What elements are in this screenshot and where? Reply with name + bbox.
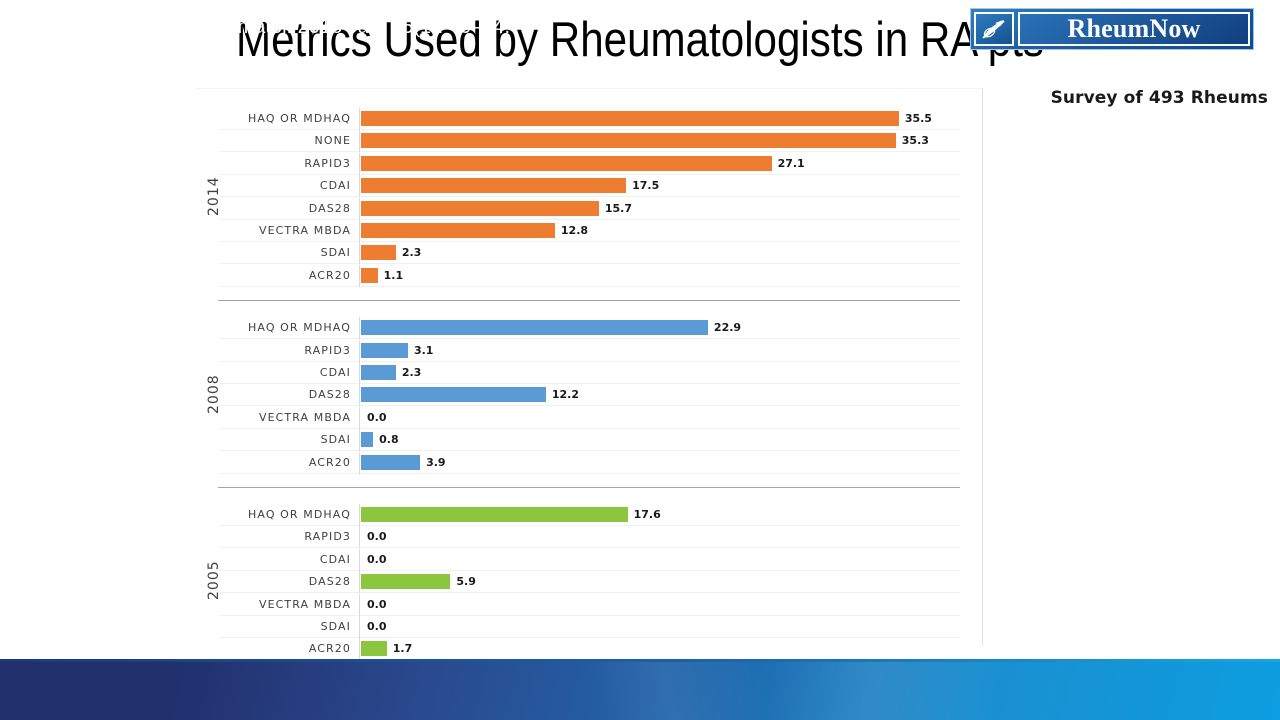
bar-value-label: 2.3 bbox=[402, 246, 422, 259]
bar-row: VECTRA MBDA0.0 bbox=[196, 407, 983, 429]
bar-row: ACR201.1 bbox=[196, 265, 983, 287]
bar-track: 5.9 bbox=[359, 571, 970, 593]
bar-track: 15.7 bbox=[359, 198, 970, 220]
bar-row: DAS2812.2 bbox=[196, 384, 983, 406]
bar-value-label: 1.7 bbox=[393, 642, 413, 655]
bar-track: 27.1 bbox=[359, 153, 970, 175]
year-axis-label: 2005 bbox=[206, 561, 222, 601]
footer-bar bbox=[0, 662, 1280, 720]
bar-value-label: 0.0 bbox=[367, 620, 387, 633]
bar-value-label: 35.5 bbox=[905, 112, 932, 125]
bar[interactable] bbox=[361, 343, 408, 358]
category-label: VECTRA MBDA bbox=[196, 224, 351, 237]
category-label: HAQ OR MDHAQ bbox=[196, 112, 351, 125]
bar-value-label: 12.8 bbox=[561, 224, 588, 237]
bar-row: HAQ OR MDHAQ17.6 bbox=[196, 504, 983, 526]
bar-track: 1.7 bbox=[359, 638, 970, 660]
bar[interactable] bbox=[361, 365, 396, 380]
category-label: ACR20 bbox=[196, 642, 351, 655]
bar-track: 2.3 bbox=[359, 362, 970, 384]
bar[interactable] bbox=[361, 156, 772, 171]
bar-value-label: 0.8 bbox=[379, 433, 399, 446]
bar-row: CDAI0.0 bbox=[196, 549, 983, 571]
category-label: RAPID3 bbox=[196, 530, 351, 543]
bar-value-label: 17.6 bbox=[634, 508, 661, 521]
bar-track: 0.0 bbox=[359, 549, 970, 571]
bar-value-label: 0.0 bbox=[367, 411, 387, 424]
year-axis-label: 2014 bbox=[206, 176, 222, 216]
bar[interactable] bbox=[361, 455, 420, 470]
bar-track: 0.0 bbox=[359, 526, 970, 548]
bar[interactable] bbox=[361, 111, 899, 126]
year-axis-label: 2008 bbox=[206, 374, 222, 414]
bar-value-label: 0.0 bbox=[367, 530, 387, 543]
logo-word-box: RheumNow bbox=[1018, 12, 1250, 46]
bar[interactable] bbox=[361, 574, 450, 589]
bar-value-label: 1.1 bbox=[384, 269, 404, 282]
bar-value-label: 22.9 bbox=[714, 321, 741, 334]
group-separator bbox=[218, 487, 960, 488]
category-label: NONE bbox=[196, 134, 351, 147]
bar-row: SDAI0.0 bbox=[196, 616, 983, 638]
bar-track: 0.0 bbox=[359, 407, 970, 429]
bar-track: 3.1 bbox=[359, 340, 970, 362]
bar-track: 0.0 bbox=[359, 616, 970, 638]
bar-row: SDAI0.8 bbox=[196, 429, 983, 451]
bar[interactable] bbox=[361, 201, 599, 216]
category-label: RAPID3 bbox=[196, 157, 351, 170]
category-label: RAPID3 bbox=[196, 344, 351, 357]
bar-row: CDAI17.5 bbox=[196, 175, 983, 197]
bar-track: 0.8 bbox=[359, 429, 970, 451]
bar[interactable] bbox=[361, 268, 378, 283]
bar-row: HAQ OR MDHAQ35.5 bbox=[196, 108, 983, 130]
bar[interactable] bbox=[361, 245, 396, 260]
bar-value-label: 0.0 bbox=[367, 598, 387, 611]
bar[interactable] bbox=[361, 133, 896, 148]
bar[interactable] bbox=[361, 432, 373, 447]
category-label: HAQ OR MDHAQ bbox=[196, 321, 351, 334]
bar[interactable] bbox=[361, 507, 628, 522]
bar[interactable] bbox=[361, 387, 546, 402]
bar-row: SDAI2.3 bbox=[196, 242, 983, 264]
category-label: ACR20 bbox=[196, 456, 351, 469]
bar-row: DAS285.9 bbox=[196, 571, 983, 593]
category-label: SDAI bbox=[196, 433, 351, 446]
quill-pen-icon bbox=[974, 12, 1014, 46]
rheumnow-logo[interactable]: RheumNow bbox=[970, 8, 1254, 50]
bar[interactable] bbox=[361, 223, 555, 238]
bar-value-label: 2.3 bbox=[402, 366, 422, 379]
bar-track: 22.9 bbox=[359, 317, 970, 339]
bar-value-label: 0.0 bbox=[367, 553, 387, 566]
bar-track: 12.8 bbox=[359, 220, 970, 242]
bar-track: 35.3 bbox=[359, 130, 970, 152]
bar-track: 12.2 bbox=[359, 384, 970, 406]
category-label: HAQ OR MDHAQ bbox=[196, 508, 351, 521]
bar-value-label: 12.2 bbox=[552, 388, 579, 401]
bar-track: 17.5 bbox=[359, 175, 970, 197]
bar-value-label: 17.5 bbox=[632, 179, 659, 192]
bar[interactable] bbox=[361, 178, 626, 193]
bar-track: 35.5 bbox=[359, 108, 970, 130]
bar-track: 0.0 bbox=[359, 594, 970, 616]
bar-row: DAS2815.7 bbox=[196, 198, 983, 220]
bar-value-label: 35.3 bbox=[902, 134, 929, 147]
category-label: SDAI bbox=[196, 246, 351, 259]
bar[interactable] bbox=[361, 320, 708, 335]
bar-value-label: 27.1 bbox=[778, 157, 805, 170]
bar[interactable] bbox=[361, 641, 387, 656]
logo-wordmark: RheumNow bbox=[1067, 16, 1200, 42]
bar-row: VECTRA MBDA12.8 bbox=[196, 220, 983, 242]
bar-row: RAPID30.0 bbox=[196, 526, 983, 548]
category-label: ACR20 bbox=[196, 269, 351, 282]
bar-row: HAQ OR MDHAQ22.9 bbox=[196, 317, 983, 339]
category-label: SDAI bbox=[196, 620, 351, 633]
bar-row: VECTRA MBDA0.0 bbox=[196, 594, 983, 616]
bar-track: 2.3 bbox=[359, 242, 970, 264]
bar-value-label: 5.9 bbox=[456, 575, 476, 588]
bar-value-label: 3.1 bbox=[414, 344, 434, 357]
bar-track: 3.9 bbox=[359, 452, 970, 474]
bar-track: 17.6 bbox=[359, 504, 970, 526]
citation-text: Curtis JR, et al. J Rheumatol. 2018 Jan;… bbox=[32, 16, 510, 39]
survey-note: Survey of 493 Rheums bbox=[1051, 88, 1268, 108]
group-separator bbox=[218, 300, 960, 301]
bar-row: RAPID33.1 bbox=[196, 340, 983, 362]
bar-row: ACR201.7 bbox=[196, 638, 983, 660]
bar-row: RAPID327.1 bbox=[196, 153, 983, 175]
bar-value-label: 3.9 bbox=[426, 456, 446, 469]
bar-row: CDAI2.3 bbox=[196, 362, 983, 384]
bar-track: 1.1 bbox=[359, 265, 970, 287]
bar-row: ACR203.9 bbox=[196, 452, 983, 474]
bar-row: NONE35.3 bbox=[196, 130, 983, 152]
bar-value-label: 15.7 bbox=[605, 202, 632, 215]
bar-chart: HAQ OR MDHAQ35.5NONE35.3RAPID327.1CDAI17… bbox=[196, 88, 983, 646]
